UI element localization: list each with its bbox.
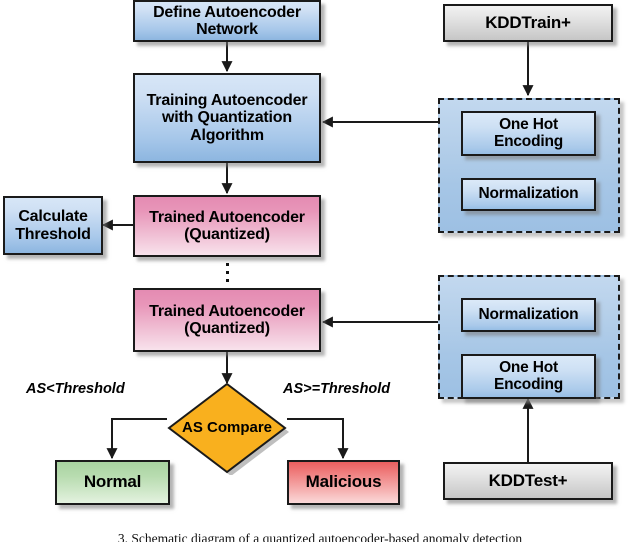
as-compare-label: AS Compare [165, 381, 289, 475]
node-as-compare-decision[interactable]: AS Compare [165, 381, 289, 475]
node-malicious[interactable]: Malicious [287, 460, 400, 505]
edge-compare-to-malicious [287, 419, 343, 458]
node-kddtrain-plus[interactable]: KDDTrain+ [443, 4, 613, 42]
node-test-one-hot-encoding[interactable]: One Hot Encoding [461, 354, 596, 399]
vertical-ellipsis-icon [225, 263, 229, 282]
edge-label-as-less-than-threshold: AS<Threshold [26, 381, 125, 397]
node-test-normalization[interactable]: Normalization [461, 298, 596, 332]
flowchart-canvas: Define Autoencoder Network Training Auto… [0, 0, 640, 542]
edge-compare-to-normal [112, 419, 167, 458]
as-compare-text: AS Compare [182, 420, 272, 437]
node-kddtest-plus[interactable]: KDDTest+ [443, 462, 613, 500]
figure-caption: 3. Schematic diagram of a quantized auto… [0, 531, 640, 542]
node-trained-autoencoder-quantized-top[interactable]: Trained Autoencoder (Quantized) [133, 195, 321, 257]
node-train-normalization[interactable]: Normalization [461, 178, 596, 211]
edge-label-as-greater-equal-threshold: AS>=Threshold [283, 381, 390, 397]
node-normal[interactable]: Normal [55, 460, 170, 505]
node-train-one-hot-encoding[interactable]: One Hot Encoding [461, 111, 596, 156]
node-define-autoencoder-network[interactable]: Define Autoencoder Network [133, 0, 321, 42]
node-trained-autoencoder-quantized-bottom[interactable]: Trained Autoencoder (Quantized) [133, 288, 321, 352]
node-training-autoencoder-quantization[interactable]: Training Autoencoder with Quantization A… [133, 73, 321, 163]
node-calculate-threshold[interactable]: Calculate Threshold [3, 196, 103, 255]
